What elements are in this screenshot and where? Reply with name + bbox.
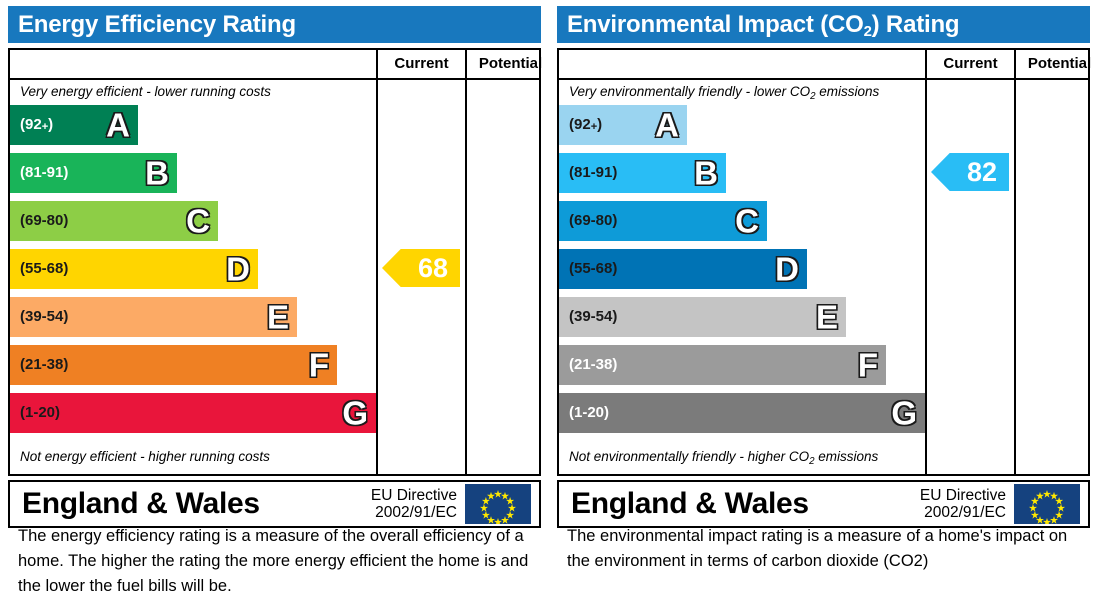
energy-band-b-range: (81-91) [20,153,68,193]
environmental-rating-grid: Current Potential Very environmentally f… [557,48,1090,476]
environmental-footer-bar: England & Wales EU Directive 2002/91/EC [557,480,1090,528]
environmental-band-g: (1-20) G [559,393,925,433]
energy-band-b: (81-91) B [10,153,177,193]
environmental-band-e: (39-54) E [559,297,846,337]
environmental-bands-container: (92+) A (81-91) B (69-80) C (55-68) D [559,105,923,445]
energy-bands-container: (92+) A (81-91) B (69-80) C ( [10,105,374,445]
energy-rating-grid: Current Potential Very energy efficient … [8,48,541,476]
environmental-grid-header-row: Current Potential [559,50,1088,80]
energy-description-text: The energy efficiency rating is a measur… [18,524,538,599]
energy-band-e-letter: E [267,301,289,334]
environmental-band-e-letter: E [816,301,838,334]
energy-band-a: (92+) A [10,105,138,145]
grid-divider-potential [465,50,467,474]
energy-band-e: (39-54) E [10,297,297,337]
energy-footer-directive: EU Directive 2002/91/EC [371,487,457,521]
energy-band-c-range: (69-80) [20,201,68,241]
energy-footer-region: England & Wales [22,487,260,521]
environmental-band-d-letter: D [775,253,799,286]
energy-band-a-letter: A [106,109,130,142]
grid-divider-potential [1014,50,1016,474]
energy-band-f-range: (21-38) [20,345,68,385]
energy-top-caption: Very energy efficient - lower running co… [10,81,374,103]
environmental-band-e-range: (39-54) [569,297,617,337]
energy-header-current: Current [378,50,465,78]
energy-efficiency-panel: Energy Efficiency Rating Current Potenti… [0,0,549,613]
grid-divider-current [376,50,378,474]
grid-divider-current [925,50,927,474]
environmental-title-post: ) Rating [872,11,960,38]
environmental-footer-region: England & Wales [571,487,809,521]
energy-header-potential: Potential [467,50,554,78]
environmental-band-d: (55-68) D [559,249,807,289]
eu-flag-icon [1014,484,1080,524]
energy-band-b-letter: B [145,157,169,190]
environmental-band-b-range: (81-91) [569,153,617,193]
energy-current-rating-arrow: 68 [382,249,460,287]
environmental-band-f: (21-38) F [559,345,886,385]
environmental-band-c: (69-80) C [559,201,767,241]
energy-band-a-range: (92+) [20,105,53,145]
environmental-band-b-letter: B [694,157,718,190]
environmental-description-text: The environmental impact rating is a mea… [567,524,1087,574]
environmental-title-pre: Environmental Impact (CO [567,11,864,38]
environmental-band-c-range: (69-80) [569,201,617,241]
energy-band-f-letter: F [309,349,329,382]
energy-band-g-range: (1-20) [20,393,60,433]
environmental-current-rating-arrow: 82 [931,153,1009,191]
environmental-band-g-range: (1-20) [569,393,609,433]
energy-band-f: (21-38) F [10,345,337,385]
energy-directive-line1: EU Directive [371,487,457,504]
environmental-band-f-range: (21-38) [569,345,617,385]
environmental-band-a-range: (92+) [569,105,602,145]
epc-certificate-graphs: Energy Efficiency Rating Current Potenti… [0,0,1098,613]
energy-band-e-range: (39-54) [20,297,68,337]
environmental-band-b: (81-91) B [559,153,726,193]
energy-band-g-letter: G [342,397,368,430]
environmental-footer-directive: EU Directive 2002/91/EC [920,487,1006,521]
eu-flag-icon [465,484,531,524]
energy-directive-line2: 2002/91/EC [375,504,457,521]
energy-band-d-letter: D [226,253,250,286]
environmental-impact-panel: Environmental Impact (CO2) Rating Curren… [549,0,1098,613]
environmental-band-g-letter: G [891,397,917,430]
environmental-bottom-caption: Not environmentally friendly - higher CO… [559,446,923,468]
environmental-current-rating-value: 82 [967,159,1009,186]
environmental-band-d-range: (55-68) [569,249,617,289]
energy-band-c-letter: C [186,205,210,238]
energy-panel-title: Energy Efficiency Rating [8,6,541,43]
environmental-header-current: Current [927,50,1014,78]
energy-band-g: (1-20) G [10,393,376,433]
energy-footer-bar: England & Wales EU Directive 2002/91/EC [8,480,541,528]
environmental-header-potential: Potential [1016,50,1098,78]
environmental-directive-line2: 2002/91/EC [924,504,1006,521]
environmental-band-c-letter: C [735,205,759,238]
energy-current-rating-value: 68 [418,255,460,282]
energy-grid-header-row: Current Potential [10,50,539,80]
environmental-band-a-letter: A [655,109,679,142]
environmental-band-f-letter: F [858,349,878,382]
environmental-band-a: (92+) A [559,105,687,145]
environmental-directive-line1: EU Directive [920,487,1006,504]
environmental-top-caption: Very environmentally friendly - lower CO… [559,81,923,103]
energy-band-d-range: (55-68) [20,249,68,289]
energy-band-d: (55-68) D [10,249,258,289]
energy-bottom-caption: Not energy efficient - higher running co… [10,446,374,468]
environmental-panel-title: Environmental Impact (CO2) Rating [557,6,1090,43]
energy-panel-title-text: Energy Efficiency Rating [18,11,296,38]
environmental-title-subscript: 2 [864,24,872,40]
energy-band-c: (69-80) C [10,201,218,241]
